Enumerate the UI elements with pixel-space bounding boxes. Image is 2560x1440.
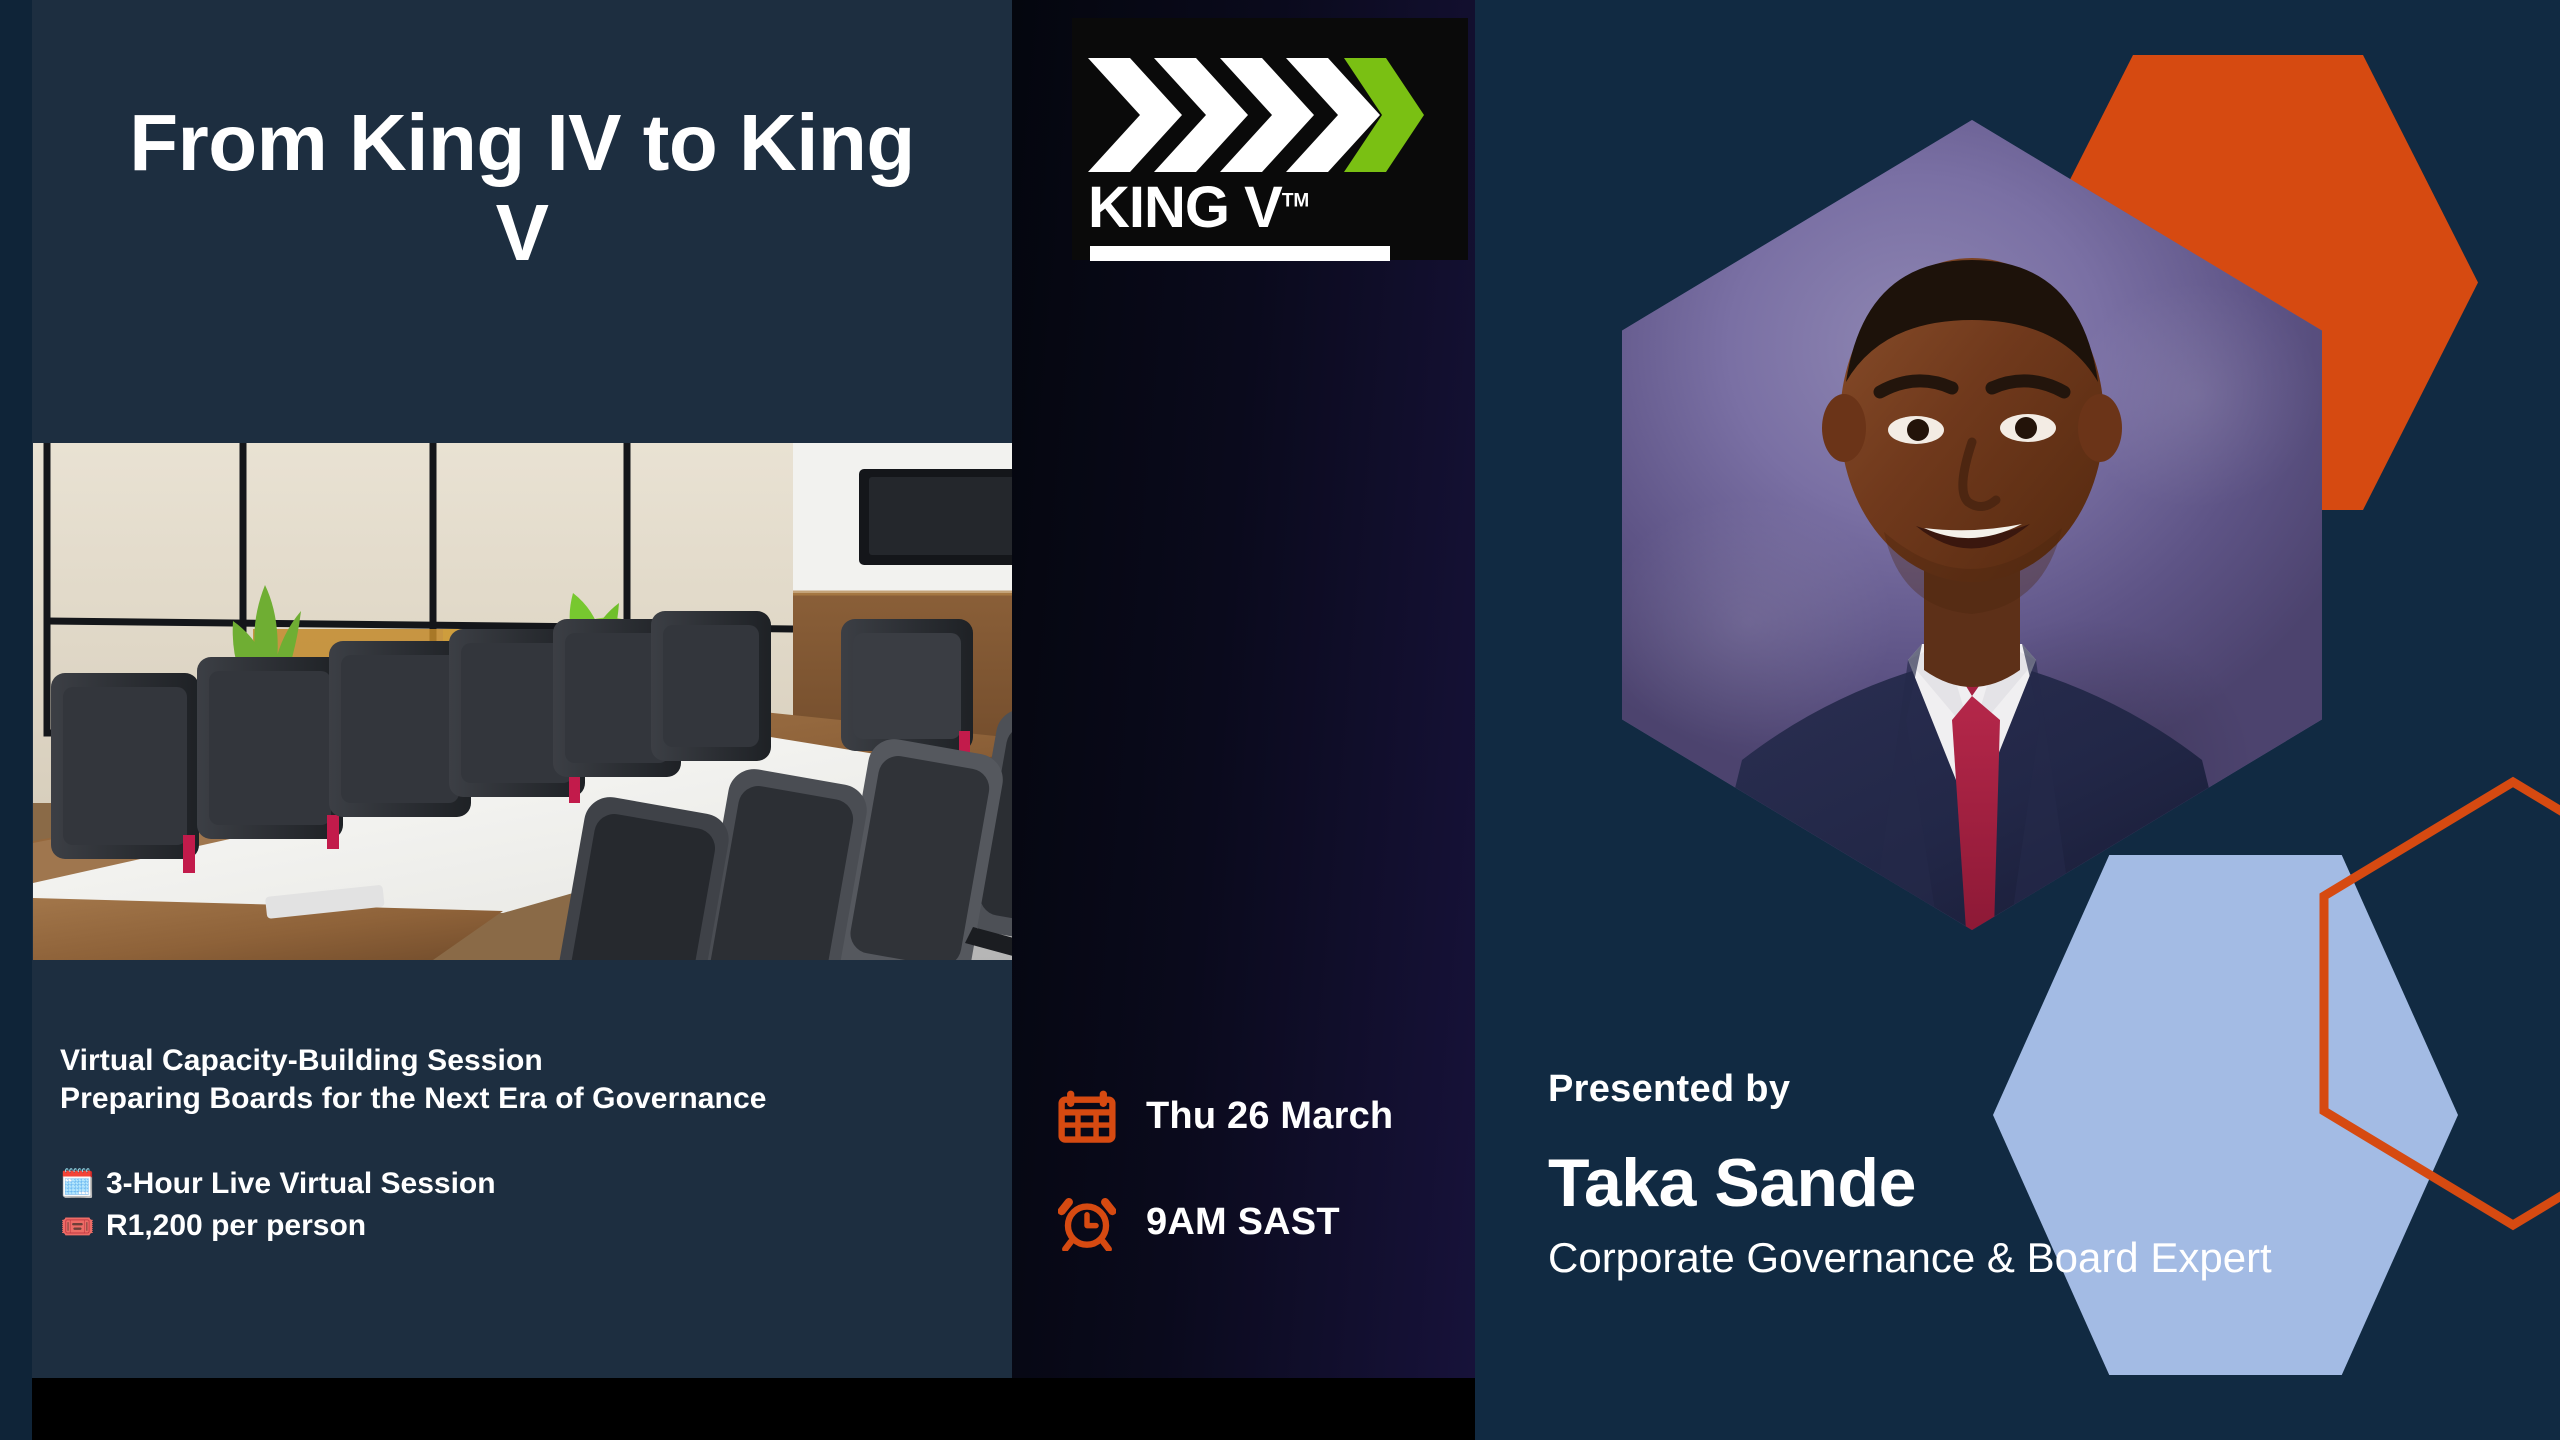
presenter-role: Corporate Governance & Board Expert — [1548, 1235, 2528, 1281]
trademark-icon: TM — [1282, 191, 1309, 212]
promo-poster: From King IV to King V — [0, 0, 2560, 1440]
left-edge-strip — [0, 0, 32, 1440]
list-item: 🎟️ R1,200 per person — [60, 1205, 1000, 1248]
session-subtitle-line1: Virtual Capacity-Building Session — [60, 1042, 1000, 1080]
chair-head — [841, 619, 973, 759]
event-date-label: Thu 26 March — [1146, 1095, 1393, 1138]
calendar-emoji: 🗓️ — [60, 1170, 94, 1198]
logo-underline — [1090, 246, 1390, 261]
page-title: From King IV to King V — [32, 98, 1012, 279]
alarm-clock-icon — [1058, 1193, 1116, 1251]
list-item-label: 3-Hour Live Virtual Session — [106, 1163, 496, 1206]
bottom-bar — [32, 1378, 1475, 1440]
list-item-label: R1,200 per person — [106, 1205, 366, 1248]
event-date-row: Thu 26 March — [1058, 1087, 1458, 1145]
event-time-row: 9AM SAST — [1058, 1193, 1458, 1251]
calendar-icon — [1058, 1087, 1116, 1145]
logo-wordmark: KING VTM — [1088, 174, 1309, 241]
logo-wordmark-text: KING V — [1088, 175, 1282, 240]
presenter-name: Taka Sande — [1548, 1149, 2528, 1217]
chevrons-icon — [1086, 56, 1426, 174]
list-item: 🗓️ 3-Hour Live Virtual Session — [60, 1163, 1000, 1206]
session-details: Virtual Capacity-Building Session Prepar… — [60, 1042, 1000, 1248]
session-subtitle-line2: Preparing Boards for the Next Era of Gov… — [60, 1080, 1000, 1118]
presenter-block: Presented by Taka Sande Corporate Govern… — [1548, 1068, 2528, 1281]
king-v-logo: KING VTM — [1072, 18, 1468, 260]
when-block: Thu 26 March 9AM SAST — [1058, 1087, 1458, 1299]
title-block: From King IV to King V — [32, 98, 1012, 279]
ticket-emoji: 🎟️ — [60, 1213, 94, 1241]
event-time-label: 9AM SAST — [1146, 1201, 1340, 1244]
presented-by-label: Presented by — [1548, 1068, 2528, 1111]
session-bullet-list: 🗓️ 3-Hour Live Virtual Session 🎟️ R1,200… — [60, 1163, 1000, 1248]
